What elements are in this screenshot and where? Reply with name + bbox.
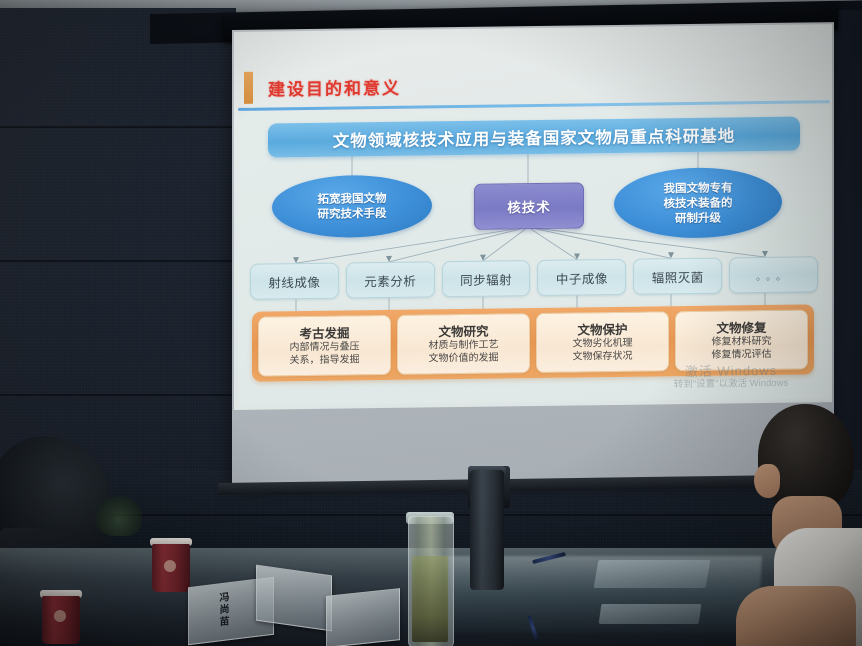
- name-placard: [326, 588, 400, 646]
- panel-seam: [0, 126, 236, 128]
- tech-label: 同步辐射: [460, 269, 512, 289]
- app-title: 文物保护: [577, 321, 627, 337]
- conference-microphone: [470, 470, 504, 590]
- panel-seam: [0, 260, 236, 262]
- goal-right-label: 我国文物专有核技术装备的研制升级: [664, 180, 733, 226]
- seated-person: [744, 404, 862, 646]
- core-technology-label: 核技术: [507, 196, 551, 217]
- app-box-archaeology: 考古发掘 内部情况与叠压关系，指导发掘: [258, 315, 391, 377]
- technology-row: 射线成像 元素分析 同步辐射 中子成像 辐照灭菌 。。。: [250, 256, 818, 299]
- tech-label: 射线成像: [268, 271, 320, 291]
- potted-plant: [96, 496, 142, 536]
- main-title-banner: 文物领域核技术应用与装备国家文物局重点科研基地: [268, 117, 800, 158]
- tech-box-irradiation-sterilization: 辐照灭菌: [633, 258, 722, 295]
- tea-leaves: [412, 556, 448, 642]
- tech-label: 中子成像: [556, 268, 608, 288]
- ellipsis-label: 。。。: [756, 267, 791, 282]
- app-title: 文物修复: [716, 320, 766, 336]
- app-desc: 文物劣化机理文物保存状况: [573, 336, 633, 363]
- core-technology-box: 核技术: [474, 182, 584, 229]
- app-title: 文物研究: [438, 323, 488, 339]
- goal-left-label: 拓宽我国文物研究技术手段: [318, 191, 387, 222]
- app-box-relic-protection: 文物保护 文物劣化机理文物保存状况: [536, 311, 669, 373]
- person-arm: [736, 586, 856, 646]
- paper-cup: [152, 544, 190, 592]
- tech-box-neutron-imaging: 中子成像: [537, 259, 626, 296]
- tech-box-ellipsis: 。。。: [729, 256, 818, 293]
- tech-label: 元素分析: [364, 270, 416, 290]
- app-desc: 内部情况与叠压关系，指导发掘: [290, 340, 360, 367]
- tech-box-synchrotron-radiation: 同步辐射: [442, 260, 531, 297]
- document: [599, 604, 702, 624]
- paper-cup: [42, 596, 80, 644]
- app-desc: 材质与制作工艺文物价值的发掘: [429, 338, 499, 365]
- app-box-relic-restoration: 文物修复 修复材料研究修复情况评估: [675, 309, 808, 371]
- panel-seam: [0, 394, 236, 396]
- person-ear: [754, 464, 780, 498]
- document: [594, 560, 711, 588]
- tech-box-xray-imaging: 射线成像: [250, 263, 339, 300]
- tech-box-element-analysis: 元素分析: [346, 261, 435, 298]
- placard-name: 冯尚苗: [215, 591, 230, 629]
- title-accent-bar: [244, 72, 253, 104]
- conference-room-photo: 建设目的和意义: [0, 0, 862, 646]
- name-placard: [256, 565, 332, 632]
- presentation-slide: 建设目的和意义: [234, 24, 832, 410]
- slide-title: 建设目的和意义: [268, 74, 401, 101]
- tech-label: 辐照灭菌: [652, 266, 704, 286]
- app-desc: 修复材料研究修复情况评估: [712, 334, 772, 361]
- app-title: 考古发掘: [299, 325, 349, 341]
- cup-logo: [164, 560, 176, 572]
- cup-logo: [54, 610, 66, 622]
- app-box-relic-research: 文物研究 材质与制作工艺文物价值的发掘: [397, 313, 530, 375]
- main-banner-label: 文物领域核技术应用与装备国家文物局重点科研基地: [333, 122, 736, 151]
- application-band: 考古发掘 内部情况与叠压关系，指导发掘 文物研究 材质与制作工艺文物价值的发掘 …: [252, 304, 814, 381]
